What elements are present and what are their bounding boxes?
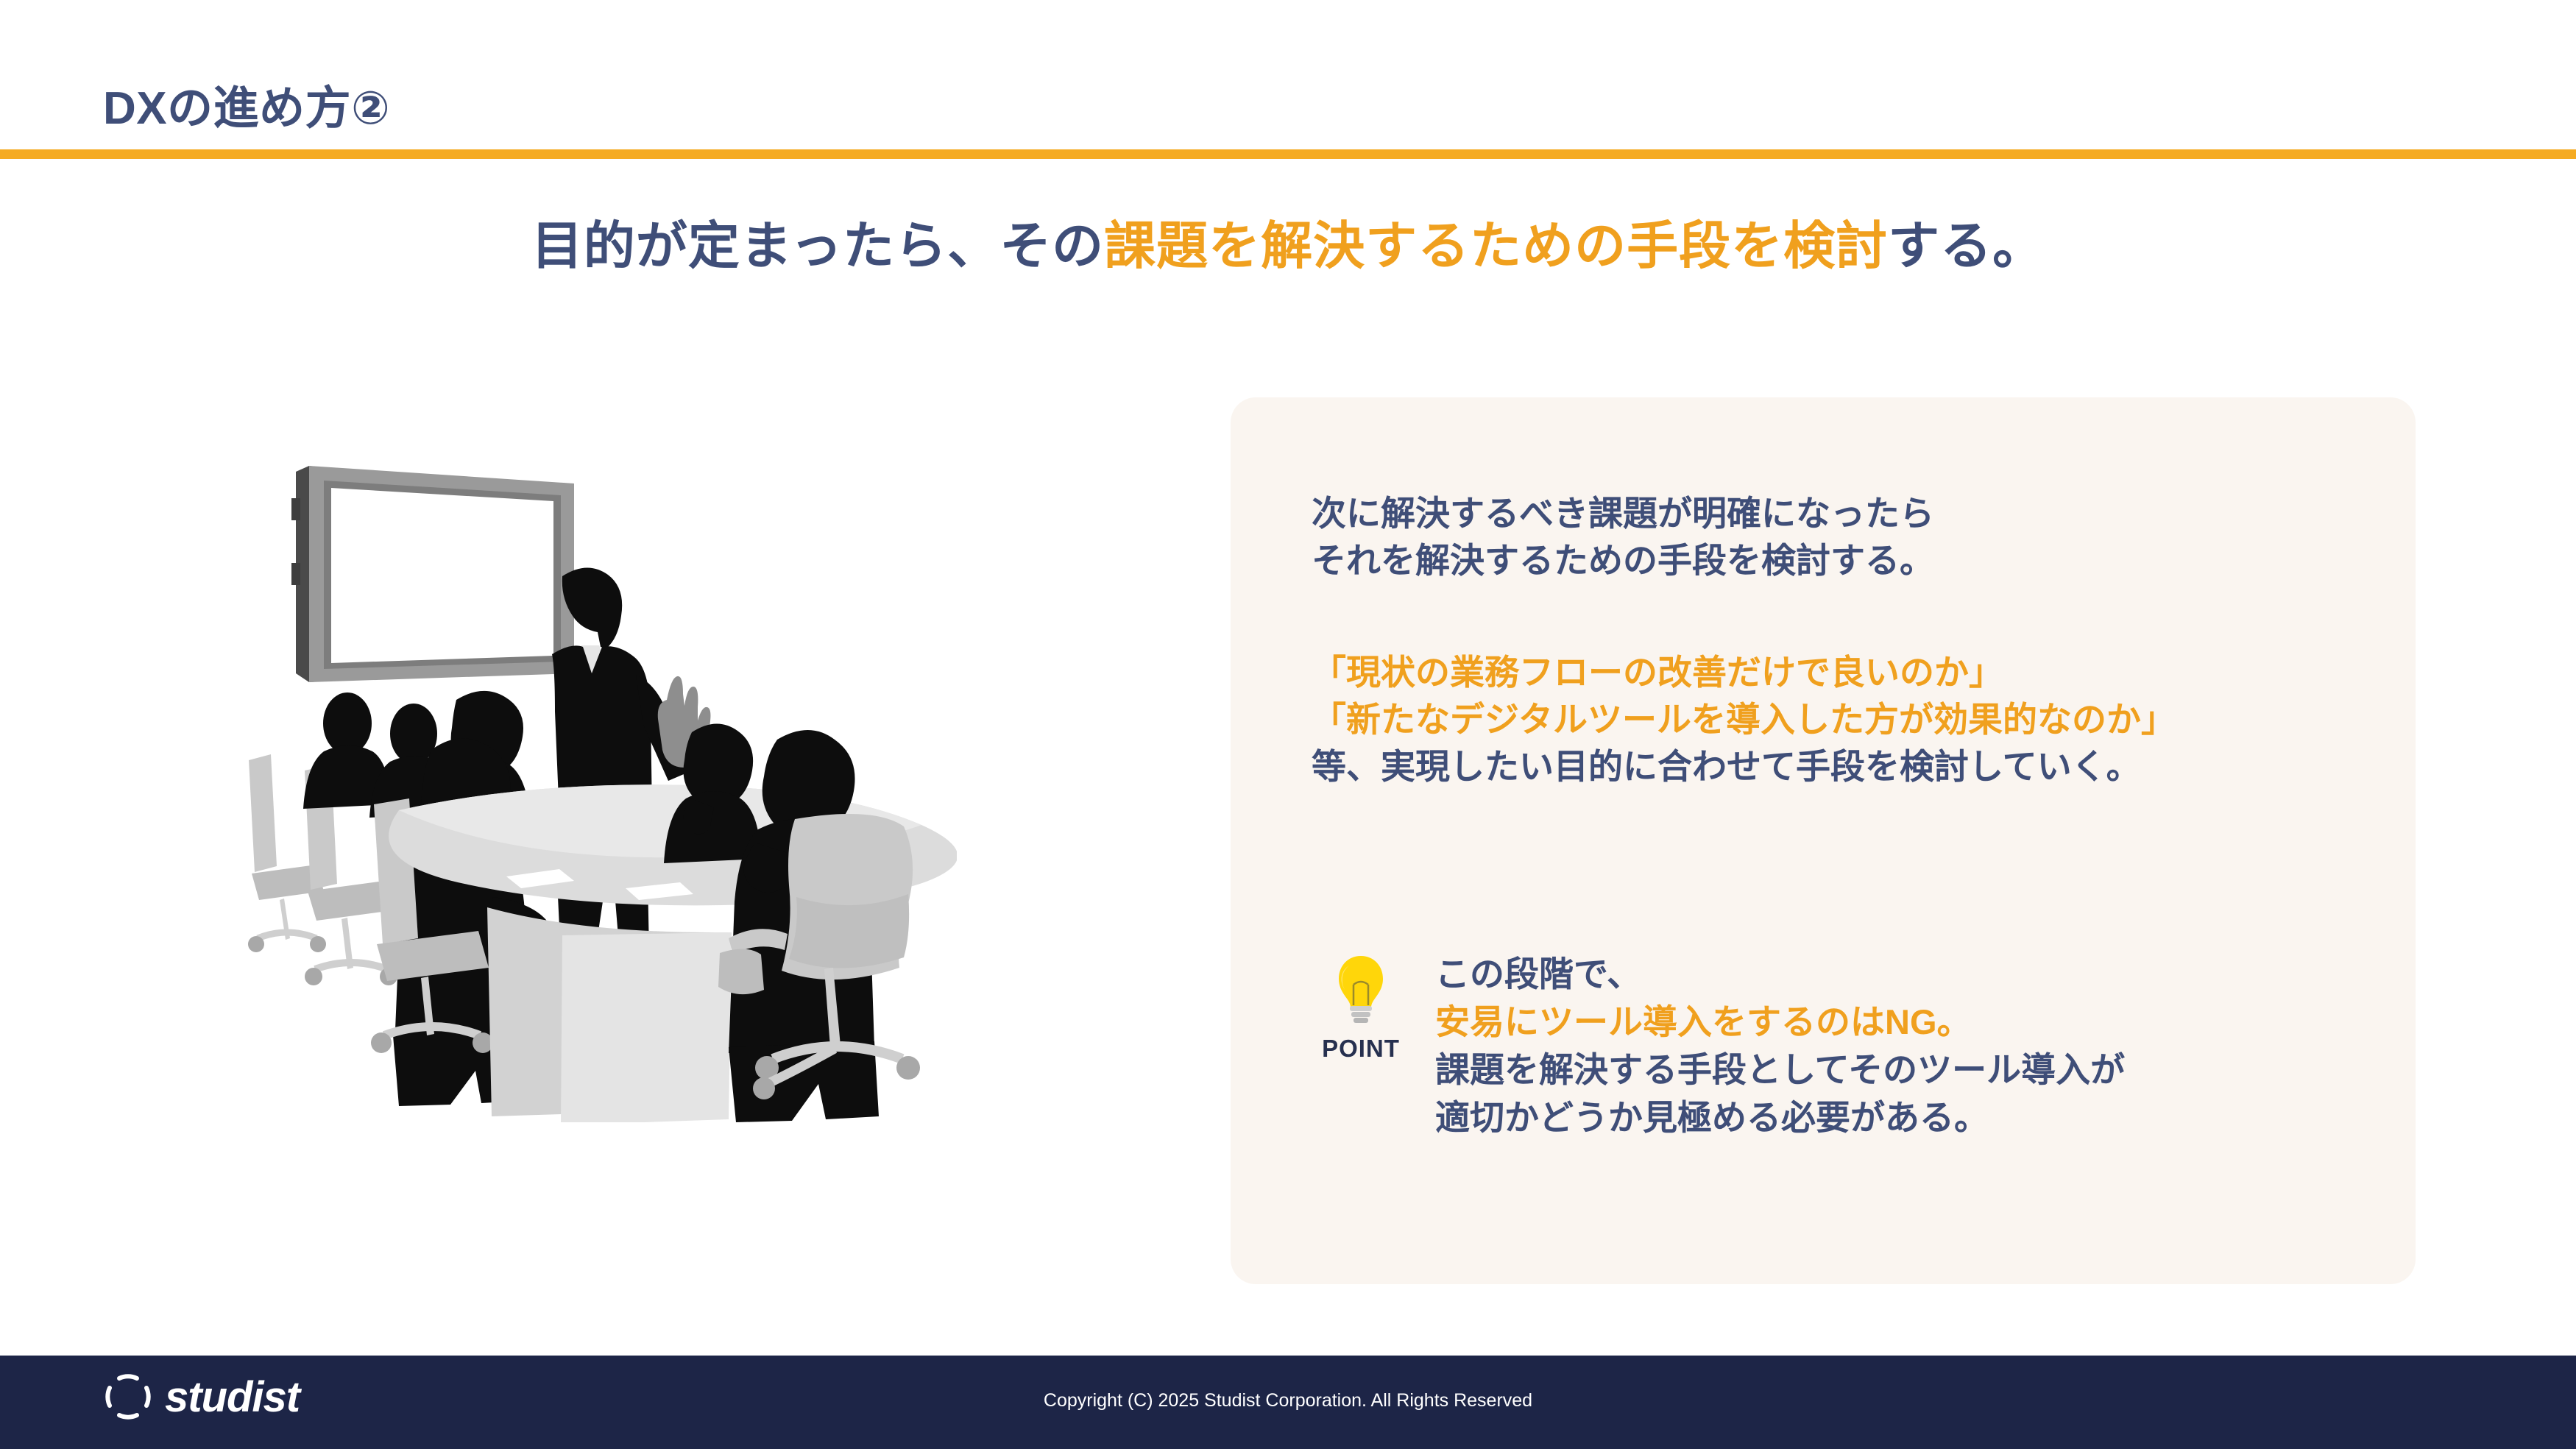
- point-line-1: この段階で、: [1435, 951, 2125, 999]
- lightbulb-icon: [1334, 954, 1387, 1030]
- point-text: この段階で、 安易にツール導入をするのはNG。 課題を解決する手段としてそのツー…: [1435, 949, 2125, 1141]
- card-intro-line-2: それを解決するための手段を検討する。: [1312, 537, 1934, 584]
- meeting-room-illustration: [213, 453, 957, 1122]
- main-heading: 目的が定まったら、その課題を解決するための手段を検討する。: [0, 205, 2576, 279]
- main-heading-part1: 目的が定まったら、その: [531, 217, 1104, 274]
- meeting-illustration-svg: [213, 453, 957, 1122]
- point-line-2: 安易にツール導入をするのはNG。: [1435, 999, 2125, 1046]
- main-heading-highlight: 課題を解決するための手段を検討: [1104, 217, 1888, 274]
- card-quote-line-3: 等、実現したい目的に合わせて手段を検討していく。: [1312, 743, 2176, 790]
- main-heading-part2: する。: [1888, 217, 2045, 274]
- point-line-4: 適切かどうか見極める必要がある。: [1435, 1094, 2125, 1142]
- card-intro-line-1: 次に解決するべき課題が明確になったら: [1312, 490, 1934, 537]
- footer-bar: studist Copyright (C) 2025 Studist Corpo…: [0, 1356, 2576, 1449]
- wall-monitor-icon: [291, 466, 574, 682]
- point-block: POINT この段階で、 安易にツール導入をするのはNG。 課題を解決する手段と…: [1303, 949, 2125, 1141]
- slide-root: DXの進め方② 目的が定まったら、その課題を解決するための手段を検討する。: [0, 0, 2576, 1449]
- point-badge: POINT: [1303, 949, 1419, 1063]
- card-quotes-paragraph: 「現状の業務フローの改善だけで良いのか」 「新たなデジタルツールを導入した方が効…: [1312, 649, 2176, 790]
- card-intro-paragraph: 次に解決するべき課題が明確になったら それを解決するための手段を検討する。: [1312, 490, 1934, 584]
- point-line-3: 課題を解決する手段としてそのツール導入が: [1435, 1046, 2125, 1094]
- card-quote-line-1: 「現状の業務フローの改善だけで良いのか」: [1312, 649, 2176, 696]
- page-title: DXの進め方②: [103, 71, 390, 137]
- title-divider-rule: [0, 149, 2576, 159]
- card-quote-line-2: 「新たなデジタルツールを導入した方が効果的なのか」: [1312, 696, 2176, 743]
- copyright-text: Copyright (C) 2025 Studist Corporation. …: [0, 1390, 2576, 1411]
- point-label: POINT: [1322, 1035, 1400, 1063]
